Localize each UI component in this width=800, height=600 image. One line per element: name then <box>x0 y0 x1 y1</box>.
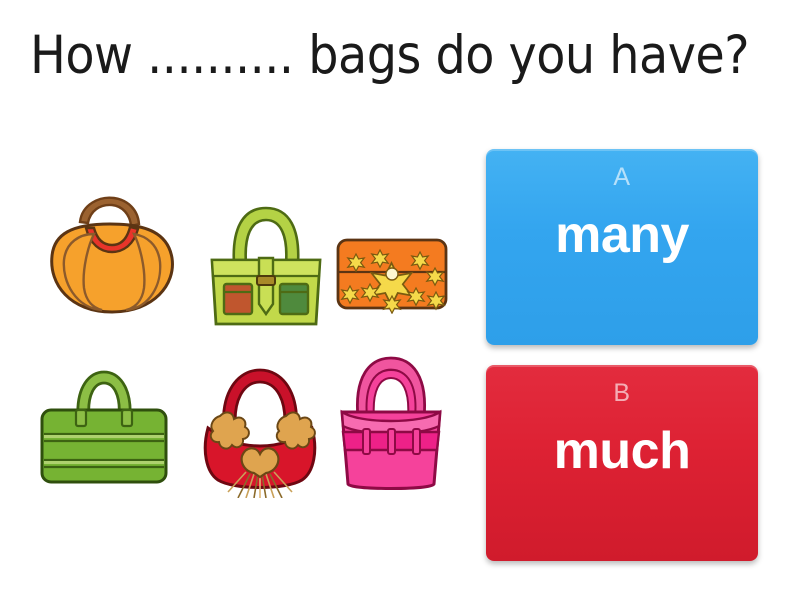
lime-satchel-bag-icon <box>206 192 326 332</box>
bag-lime-satchel <box>206 192 326 332</box>
bag-red-fringe-purse <box>194 358 326 498</box>
answer-a-letter: A <box>613 165 630 190</box>
bag-orange-hobo <box>42 184 182 329</box>
question-text: How .......... bags do you have? <box>30 24 775 88</box>
pink-band-tote-icon <box>330 350 452 496</box>
answer-a-label: many <box>555 208 689 263</box>
bag-green-striped-tote <box>36 360 172 490</box>
orange-floral-clutch-icon <box>334 234 450 314</box>
bag-orange-floral-clutch <box>334 234 450 314</box>
bag-illustration-grid <box>24 178 474 518</box>
answer-b-label: much <box>554 424 691 479</box>
answer-option-a[interactable]: A many <box>486 149 758 345</box>
red-fringe-purse-icon <box>194 358 326 498</box>
answer-b-letter: B <box>613 381 630 406</box>
orange-hobo-bag-icon <box>42 184 182 329</box>
bag-pink-band-tote <box>330 350 452 496</box>
green-striped-tote-icon <box>36 360 172 490</box>
answer-option-b[interactable]: B much <box>486 365 758 561</box>
